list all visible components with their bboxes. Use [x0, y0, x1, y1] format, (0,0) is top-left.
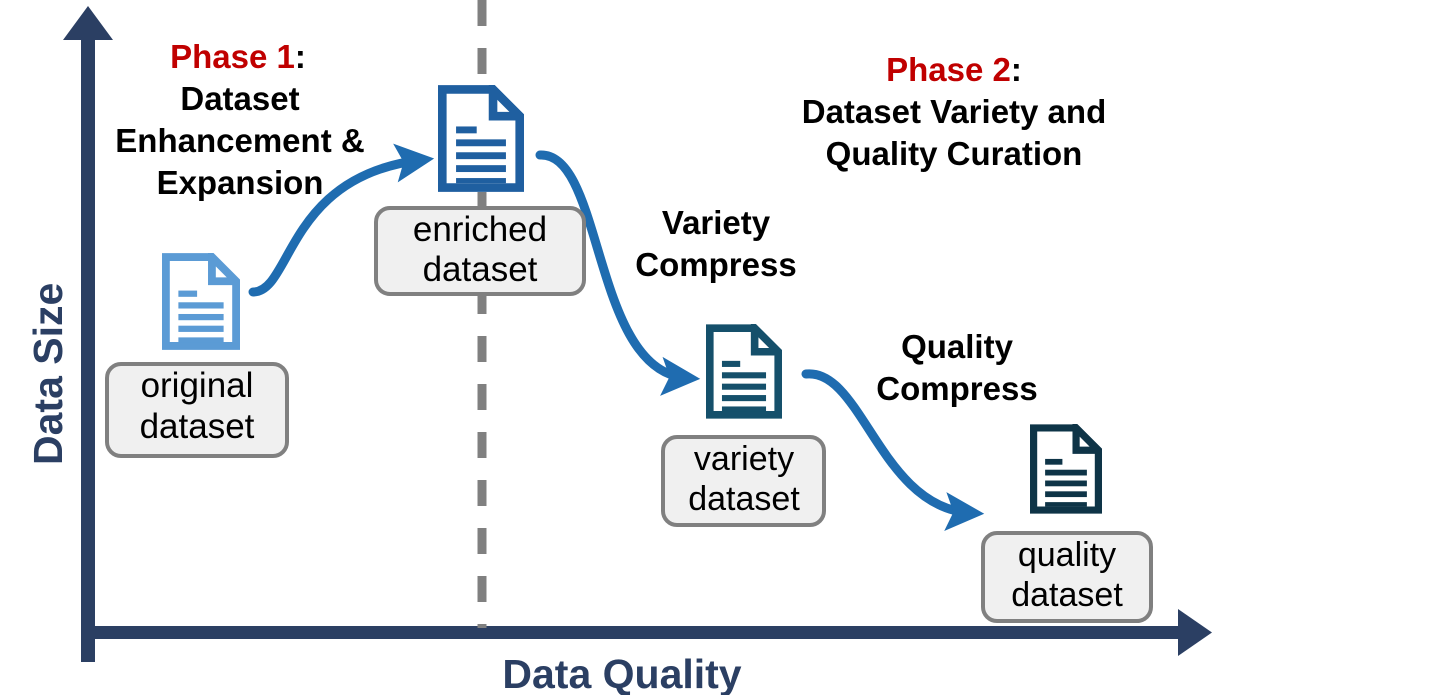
document-icon: [1034, 428, 1099, 510]
phase-2-heading: Phase 2:: [886, 51, 1022, 88]
original-dataset-label-line-1: original: [141, 366, 254, 405]
x-axis-label: Data Quality: [502, 651, 741, 695]
phase-2-annotation: Phase 2: Dataset Variety and Quality Cur…: [802, 51, 1106, 172]
phase-1-keyword: Phase 1: [170, 38, 295, 75]
phase-1-annotation: Phase 1: Dataset Enhancement & Expansion: [115, 38, 364, 201]
phase-2-title-line-1: Dataset Variety and: [802, 93, 1106, 130]
phase-1-title-line-1: Dataset: [180, 80, 299, 117]
phase-2-title-line-2: Quality Curation: [826, 135, 1083, 172]
phase-1-colon: :: [295, 38, 306, 75]
phase-2-colon: :: [1011, 51, 1022, 88]
diagram-canvas: Data Size Data Quality Phase 1: Dataset …: [0, 0, 1454, 695]
variety-compress-label-line-2: Compress: [635, 246, 796, 283]
node-variety-dataset[interactable]: variety dataset: [663, 328, 824, 525]
document-icon: [442, 89, 519, 187]
document-icon: [166, 257, 236, 346]
node-quality-dataset[interactable]: quality dataset: [983, 428, 1151, 621]
pipeline-diagram: Data Size Data Quality Phase 1: Dataset …: [0, 0, 1454, 695]
quality-dataset-label-line-2: dataset: [1011, 576, 1123, 614]
operation-labels-group: Variety Compress Quality Compress: [635, 204, 1037, 407]
phase-1-heading: Phase 1:: [170, 38, 306, 75]
document-icon: [710, 328, 778, 415]
quality-compress-label-line-1: Quality: [901, 328, 1014, 365]
x-axis-arrow-icon: [1178, 609, 1212, 656]
phase-1-title-line-3: Expansion: [157, 164, 324, 201]
node-enriched-dataset[interactable]: enriched dataset: [376, 89, 584, 294]
y-axis-line: [81, 30, 95, 662]
flow-arrows-group: [253, 155, 971, 513]
y-axis-arrow-icon: [63, 6, 113, 40]
variety-compress-label-line-1: Variety: [662, 204, 771, 241]
quality-dataset-label-line-1: quality: [1018, 536, 1116, 574]
quality-compress-label-line-2: Compress: [876, 370, 1037, 407]
x-axis-line: [81, 626, 1187, 639]
phase-1-title-line-2: Enhancement &: [115, 122, 364, 159]
enriched-dataset-label-line-1: enriched: [413, 210, 547, 249]
original-dataset-label-line-2: dataset: [140, 407, 255, 446]
variety-dataset-label-line-1: variety: [694, 440, 794, 478]
enriched-dataset-label-line-2: dataset: [423, 250, 538, 289]
y-axis-label: Data Size: [25, 283, 71, 465]
variety-dataset-label-line-2: dataset: [688, 480, 800, 518]
phase-2-keyword: Phase 2: [886, 51, 1011, 88]
